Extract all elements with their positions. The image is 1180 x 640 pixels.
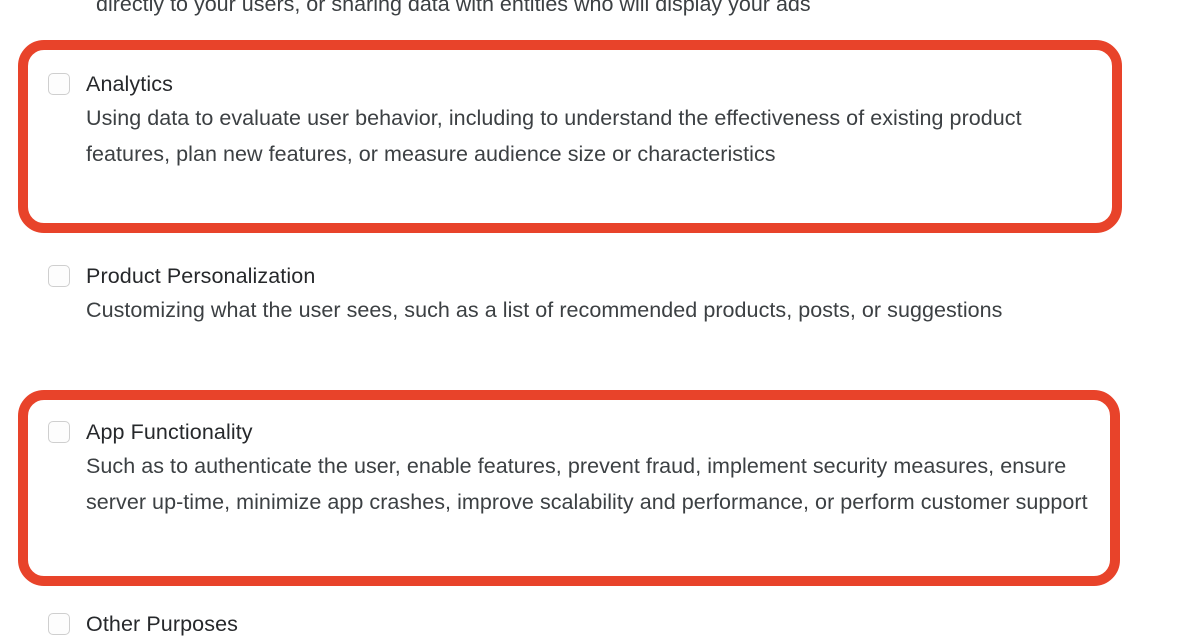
purpose-description-app-functionality: Such as to authenticate the user, enable… (86, 448, 1094, 520)
purpose-text-app-functionality: App Functionality Such as to authenticat… (86, 416, 1094, 520)
purpose-text-product-personalization: Product Personalization Customizing what… (86, 260, 1094, 328)
purpose-title-app-functionality: App Functionality (86, 416, 1094, 448)
purpose-title-product-personalization: Product Personalization (86, 260, 1094, 292)
purpose-row-app-functionality[interactable]: App Functionality Such as to authenticat… (48, 416, 1108, 520)
purpose-row-product-personalization[interactable]: Product Personalization Customizing what… (48, 260, 1108, 328)
purpose-description-product-personalization: Customizing what the user sees, such as … (86, 292, 1094, 328)
purpose-description-analytics: Using data to evaluate user behavior, in… (86, 100, 1094, 172)
checkbox-app-functionality[interactable] (48, 421, 70, 443)
purpose-text-analytics: Analytics Using data to evaluate user be… (86, 68, 1094, 172)
purpose-row-other-purposes[interactable]: Other Purposes (48, 608, 1108, 640)
purpose-row-analytics[interactable]: Analytics Using data to evaluate user be… (48, 68, 1108, 172)
checkbox-other-purposes[interactable] (48, 613, 70, 635)
purpose-text-other-purposes: Other Purposes (86, 608, 1094, 640)
clipped-previous-description: directly to your users, or sharing data … (96, 0, 1106, 22)
purpose-title-other-purposes: Other Purposes (86, 608, 1094, 640)
checkbox-analytics[interactable] (48, 73, 70, 95)
purpose-title-analytics: Analytics (86, 68, 1094, 100)
purposes-checklist-page: directly to your users, or sharing data … (0, 0, 1180, 638)
checkbox-product-personalization[interactable] (48, 265, 70, 287)
